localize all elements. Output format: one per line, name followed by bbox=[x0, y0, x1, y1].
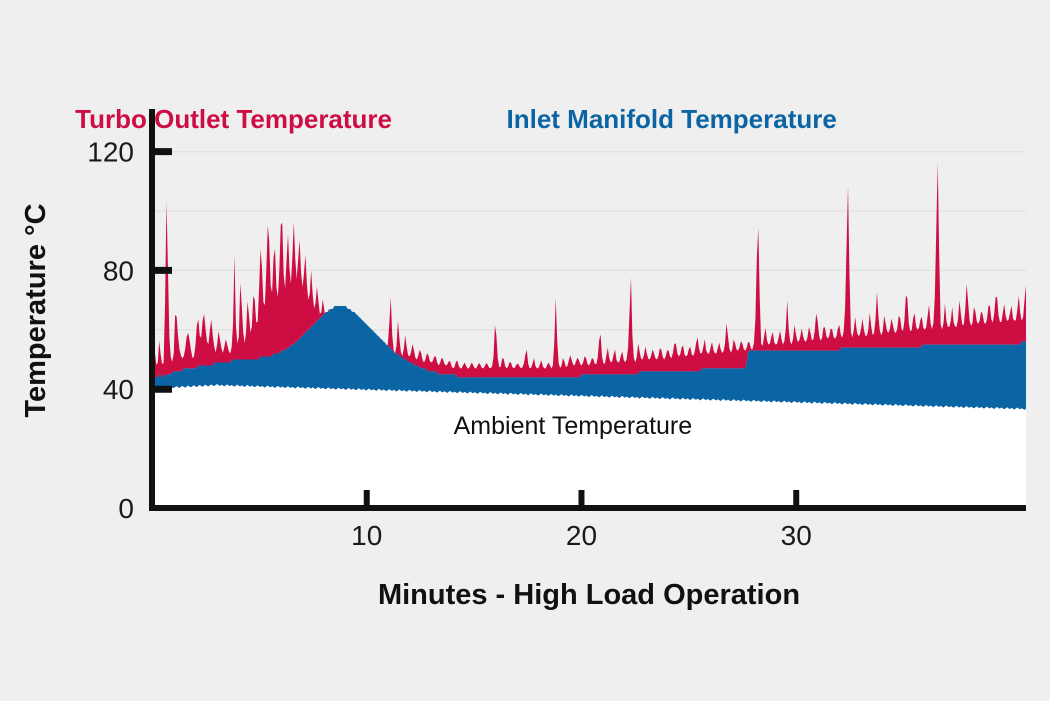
x-tick-label: 30 bbox=[781, 520, 812, 551]
x-tick-label: 20 bbox=[566, 520, 597, 551]
turbo-outlet-legend-label: Turbo Outlet Temperature bbox=[75, 104, 392, 134]
inlet-manifold-legend-label: Inlet Manifold Temperature bbox=[507, 104, 837, 134]
y-axis-title: Temperature °C bbox=[20, 203, 52, 417]
chart-figure: 04080120 102030 Temperature °C Minutes -… bbox=[0, 0, 1050, 701]
x-tick-label: 10 bbox=[351, 520, 382, 551]
x-axis-title: Minutes - High Load Operation bbox=[378, 579, 800, 611]
temperature-area-chart: 04080120 102030 Temperature °C Minutes -… bbox=[0, 0, 1050, 701]
y-tick-label: 40 bbox=[103, 374, 134, 405]
y-tick-label: 80 bbox=[103, 255, 134, 286]
ambient-legend-label: Ambient Temperature bbox=[454, 412, 693, 440]
y-tick-label: 120 bbox=[87, 137, 134, 168]
y-tick-label: 0 bbox=[118, 493, 134, 524]
